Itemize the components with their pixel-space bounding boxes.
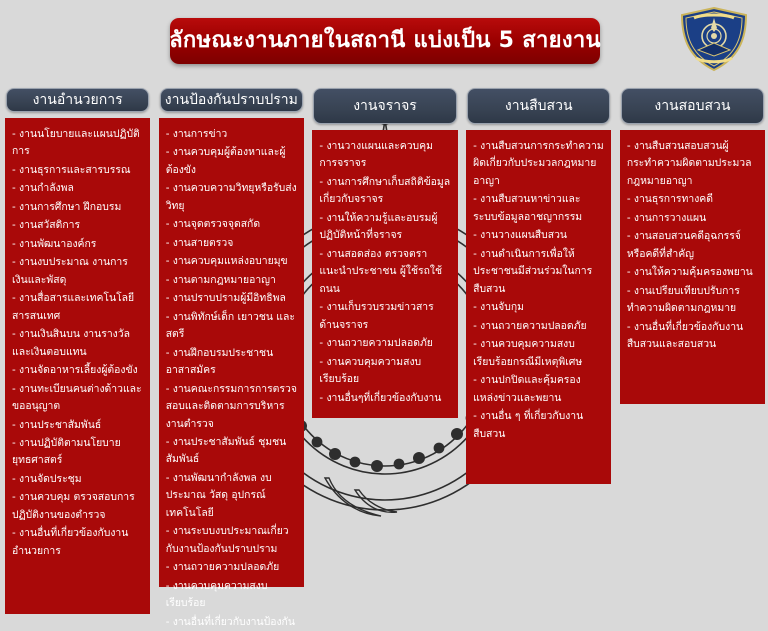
list-item: - งานพัฒนาองค์กร (12, 236, 143, 253)
list-item: - งานการวางแผน (627, 210, 758, 227)
list-item: - งานจับกุม (473, 299, 604, 316)
list-item: - งานทะเบียนคนต่างด้าวและขออนุญาต (12, 381, 143, 416)
column-header-traffic[interactable]: งานจราจร (313, 88, 456, 124)
list-item: - งานจัดประชุม (12, 471, 143, 488)
list-item: - งานถวายความปลอดภัย (319, 335, 450, 352)
list-item: - งานธุรการทางคดี (627, 191, 758, 208)
list-item: - งานสืบสวนการกระทำความผิดเกี่ยวกับประมว… (473, 138, 604, 190)
column-header-investigation[interactable]: งานสืบสวน (467, 88, 610, 124)
list-item: - งานงบประมาณ งานการเงินและพัสดุ (12, 254, 143, 289)
list-item: - งานคณะกรรมการการตรวจสอบและติดตามการบริ… (166, 381, 297, 433)
list-item: - งานพิทักษ์เด็ก เยาวชน และสตรี (166, 309, 297, 344)
column-body-inquiry: - งานสืบสวนสอบสวนผู้กระทำความผิดตามประมว… (620, 130, 765, 404)
list-item: - งานอื่นที่เกี่ยวข้องกับงานสืบสวนและสอบ… (627, 319, 758, 354)
list-item: - งานนโยบายและแผนปฏิบัติการ (12, 126, 143, 161)
list-item: - งานประชาสัมพันธ์ (12, 417, 143, 434)
list-item: - งานควบคุมความสงบเรียบร้อย (319, 354, 450, 389)
list-item: - งานให้ความรู้และอบรมผู้ปฏิบัติหน้าที่จ… (319, 210, 450, 245)
page-title: ลักษณะงานภายในสถานี แบ่งเป็น 5 สายงาน (169, 30, 601, 52)
column-body-investigation: - งานสืบสวนการกระทำความผิดเกี่ยวกับประมว… (466, 130, 611, 484)
list-item: - งานเงินสินบน งานรางวัลและเงินตอบแทน (12, 326, 143, 361)
list-item: - งานอื่น ๆ ที่เกี่ยวกับงานสืบสวน (473, 408, 604, 443)
list-item: - งานถวายความปลอดภัย (473, 318, 604, 335)
column-body-administration: - งานนโยบายและแผนปฏิบัติการ - งานธุรการแ… (5, 118, 150, 614)
list-item: - งานจัดอาหารเลี้ยงผู้ต้องขัง (12, 362, 143, 379)
list-item: - งานปราบปรามผู้มีอิทธิพล (166, 290, 297, 307)
list-item: - งานควบคุมแหล่งอบายมุข (166, 253, 297, 270)
list-item: - งานการศึกษาเก็บสถิติข้อมูลเกี่ยวกับจรา… (319, 174, 450, 209)
list-item: - งานตามกฎหมายอาญา (166, 272, 297, 289)
list-item: - งานอื่นที่เกี่ยวกับงานป้องกัน (166, 614, 297, 631)
work-division-columns: งานอำนวยการ - งานนโยบายและแผนปฏิบัติการ … (0, 88, 768, 576)
list-item: - งานสื่อสารและเทคโนโลยีสารสนเทศ (12, 290, 143, 325)
list-item: - งานสืบสวนสอบสวนผู้กระทำความผิดตามประมว… (627, 138, 758, 190)
column-header-inquiry[interactable]: งานสอบสวน (621, 88, 764, 124)
list-item: - งานวางแผนและควบคุมการจราจร (319, 138, 450, 173)
column-inquiry: งานสอบสวน - งานสืบสวนสอบสวนผู้กระทำความผ… (617, 88, 768, 576)
list-item: - งานควบคุมผู้ต้องหาและผู้ต้องขัง (166, 144, 297, 179)
list-item: - งานพัฒนากำลังพล งบประมาณ วัสดุ อุปกรณ์… (166, 470, 297, 522)
list-item: - งานควบคุม ตรวจสอบการปฏิบัติงานของตำรวจ (12, 489, 143, 524)
column-body-crime-prevention: - งานการข่าว - งานควบคุมผู้ต้องหาและผู้ต… (159, 118, 304, 587)
list-item: - งานการศึกษา ฝึกอบรม (12, 199, 143, 216)
police-badge-logo (668, 6, 760, 72)
list-item: - งานเก็บรวบรวมข่าวสารด้านจราจร (319, 299, 450, 334)
column-header-crime-prevention[interactable]: งานป้องกันปราบปราม (160, 88, 303, 112)
list-item: - งานฝึกอบรมประชาชนอาสาสมัคร (166, 345, 297, 380)
list-item: - งานถวายความปลอดภัย (166, 559, 297, 576)
slide-title-bar: ลักษณะงานภายในสถานี แบ่งเป็น 5 สายงาน (170, 18, 600, 64)
list-item: - งานธุรการและสารบรรณ (12, 162, 143, 179)
list-item: - งานสายตรวจ (166, 235, 297, 252)
list-item: - งานควบความวิทยุหรือรับส่งวิทยุ (166, 180, 297, 215)
list-item: - งานระบบงบประมาณเกี่ยวกับงานป้องกันปราบ… (166, 523, 297, 558)
list-item: - งานอื่นๆที่เกี่ยวข้องกับงาน (319, 390, 450, 407)
list-item: - งานจุดตรวจจุดสกัด (166, 216, 297, 233)
column-crime-prevention: งานป้องกันปราบปราม - งานการข่าว - งานควบ… (156, 88, 307, 576)
list-item: - งานสอดส่อง ตรวจตรา แนะนำประชาชน ผู้ใช้… (319, 246, 450, 298)
column-administration: งานอำนวยการ - งานนโยบายและแผนปฏิบัติการ … (2, 88, 153, 576)
list-item: - งานสวัสดิการ (12, 217, 143, 234)
list-item: - งานดำเนินการเพื่อให้ประชาชนมีส่วนร่วมใ… (473, 246, 604, 298)
list-item: - งานกำลังพล (12, 180, 143, 197)
list-item: - งานควบคุมความสงบเรียบร้อยกรณีมีเหตุพิเ… (473, 336, 604, 371)
list-item: - งานปฏิบัติตามนโยบายยุทธศาสตร์ (12, 435, 143, 470)
column-traffic: งานจราจร - งานวางแผนและควบคุมการจราจร - … (309, 88, 460, 576)
list-item: - งานวางแผนสืบสวน (473, 227, 604, 244)
list-item: - งานปกปิดและคุ้มครองแหล่งข่าวและพยาน (473, 372, 604, 407)
list-item: - งานเปรียบเทียบปรับการทำความผิดตามกฎหมา… (627, 283, 758, 318)
list-item: - งานอื่นที่เกี่ยวข้องกับงานอำนวยการ (12, 525, 143, 560)
list-item: - งานสอบสวนคดีอุฉกรรจ์หรือคดีที่สำคัญ (627, 228, 758, 263)
list-item: - งานให้ความคุ้มครองพยาน (627, 264, 758, 281)
list-item: - งานการข่าว (166, 126, 297, 143)
list-item: - งานประชาสัมพันธ์ ชุมชนสัมพันธ์ (166, 434, 297, 469)
slide-canvas: ลักษณะงานภายในสถานี แบ่งเป็น 5 สายงาน งา… (0, 0, 768, 576)
column-investigation: งานสืบสวน - งานสืบสวนการกระทำความผิดเกี่… (463, 88, 614, 576)
list-item: - งานสืบสวนหาข่าวและระบบข้อมูลอาชญากรรม (473, 191, 604, 226)
list-item: - งานควบคุมความสงบเรียบร้อย (166, 578, 297, 613)
column-header-administration[interactable]: งานอำนวยการ (6, 88, 149, 112)
column-body-traffic: - งานวางแผนและควบคุมการจราจร - งานการศึก… (312, 130, 457, 418)
